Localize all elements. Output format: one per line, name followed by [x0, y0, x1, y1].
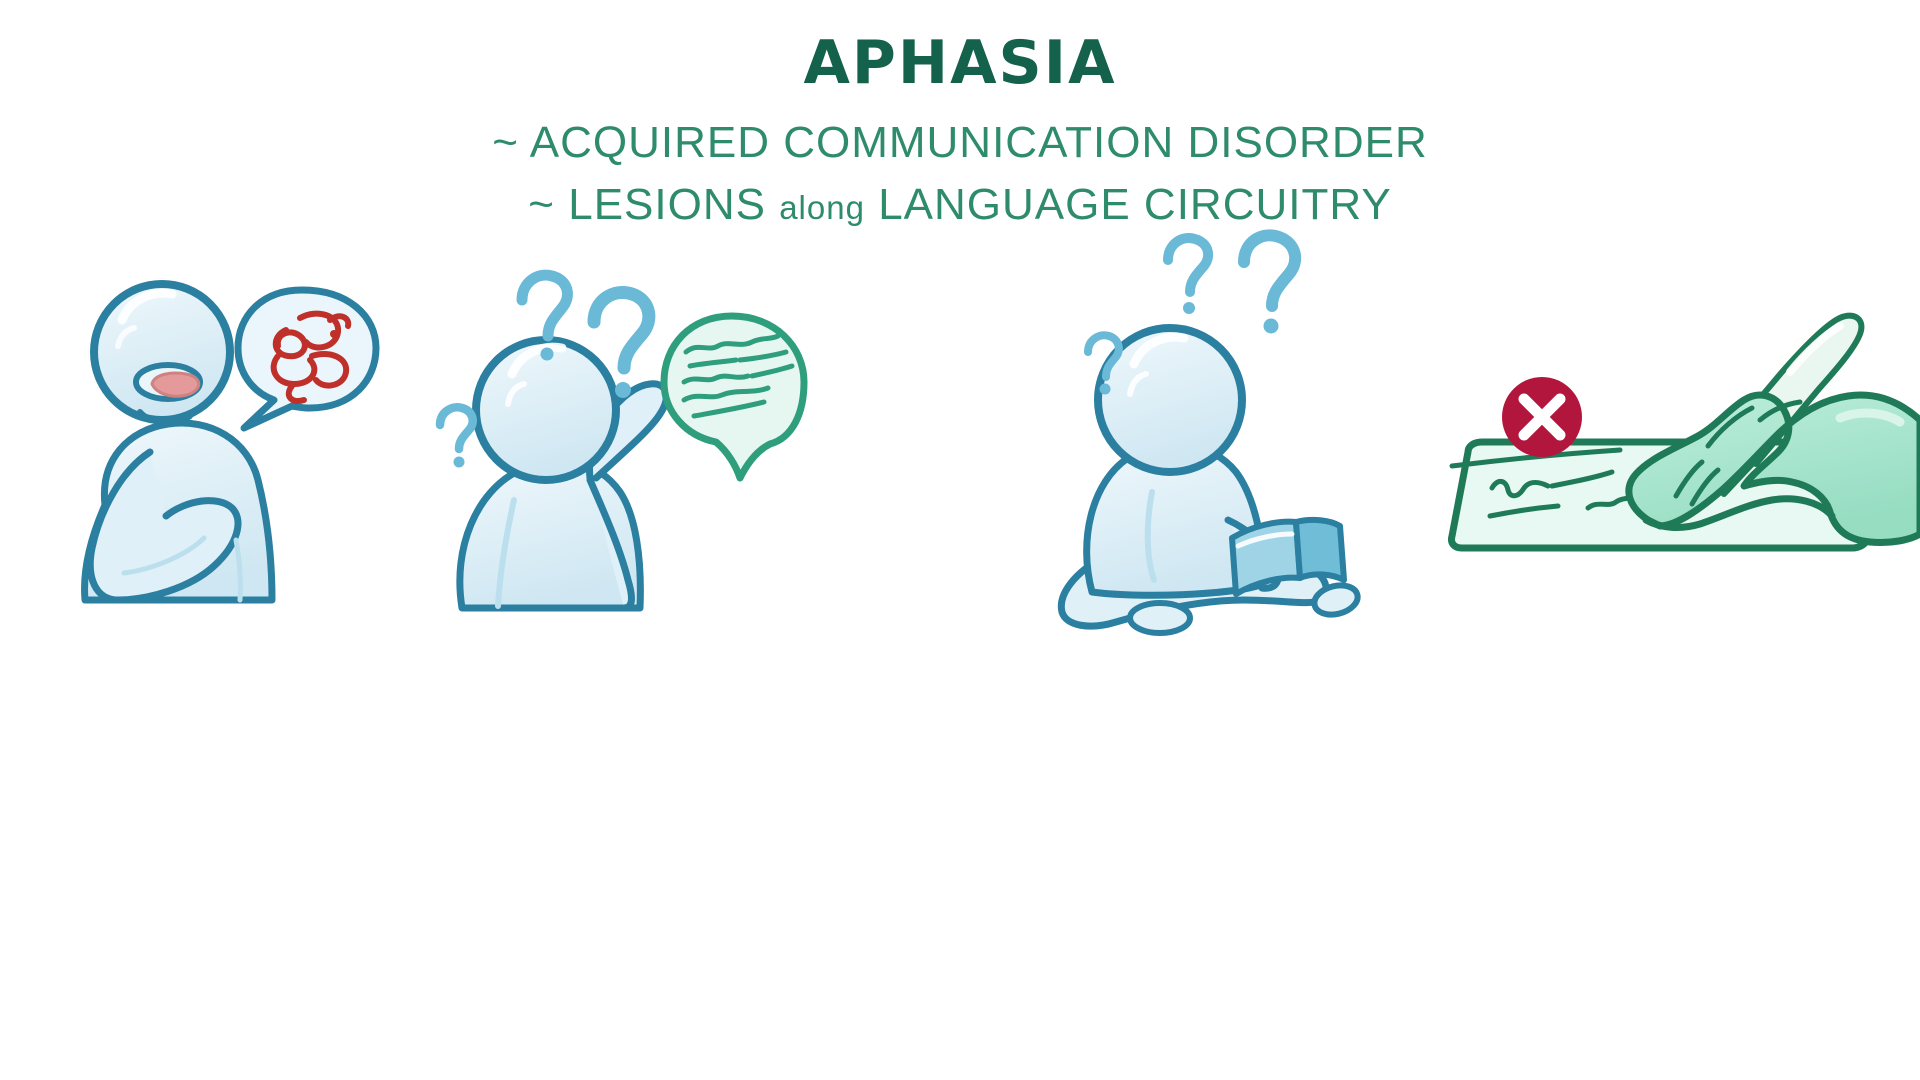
speaking-figure-tongue — [152, 373, 199, 396]
speaking-figure — [85, 284, 376, 600]
illustration-canvas: APHASIA ~ ACQUIRED COMMUNICATION DISORDE… — [0, 0, 1920, 1080]
incorrect-badge — [1502, 377, 1582, 457]
question-mark-icon — [440, 407, 473, 467]
speaking-figure-speech-bubble — [238, 290, 376, 428]
reading-figure-foot — [1130, 603, 1190, 633]
confused-listener-figure — [440, 275, 804, 608]
question-mark-icon — [1168, 238, 1208, 314]
question-mark-icon — [1244, 235, 1295, 333]
writing-hand-scene — [1451, 316, 1920, 548]
figures-artwork — [0, 0, 1920, 1080]
listener-head — [476, 340, 616, 480]
reading-figure — [1061, 235, 1360, 633]
